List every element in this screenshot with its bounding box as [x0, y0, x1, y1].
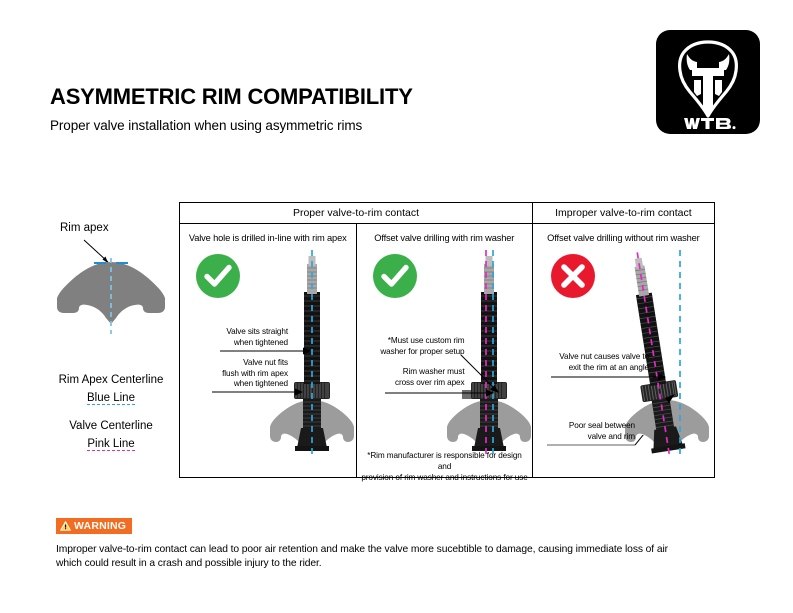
- leader-line-6: [547, 435, 663, 475]
- column-2-footnote: *Rim manufacturer is responsible for des…: [361, 450, 529, 483]
- page-header: ASYMMETRIC RIM COMPATIBILITY Proper valv…: [0, 0, 793, 160]
- callout-custom-washer: *Must use custom rim washer for proper s…: [361, 336, 465, 357]
- callout-valve-straight: Valve sits straight when tightened: [192, 327, 288, 348]
- warning-block: WARNING Improper valve-to-rim contact ca…: [56, 518, 756, 571]
- warning-body: Improper valve-to-rim contact can lead t…: [56, 543, 756, 571]
- leader-line-4: [385, 388, 495, 398]
- warning-triangle-icon: [60, 521, 71, 531]
- column-offset-with-washer: Offset valve drilling with rim washer: [357, 224, 534, 477]
- callout-nut-flush: Valve nut fits flush with rim apex when …: [188, 358, 288, 390]
- table-header-improper: Improper valve-to-rim contact: [533, 203, 714, 223]
- leader-arrow-poor-seal: [653, 390, 683, 418]
- wtb-bear-logo: [656, 30, 760, 134]
- status-badge-check-1: [196, 254, 240, 298]
- legend-pink-sublabel: Pink Line: [87, 438, 134, 450]
- legend-pink-line: Valve Centerline Pink Line: [36, 416, 186, 452]
- column-offset-without-washer: Offset valve drilling without rim washer: [533, 224, 714, 477]
- legend-pink-swatch: [87, 450, 134, 451]
- rim-apex-label: Rim apex: [60, 222, 109, 234]
- page-title: ASYMMETRIC RIM COMPATIBILITY: [50, 84, 413, 110]
- warning-body-line-1: Improper valve-to-rim contact can lead t…: [56, 543, 756, 557]
- table-body-row: Valve hole is drilled in-line with rim a…: [180, 224, 714, 477]
- legend-blue-line: Rim Apex Centerline Blue Line: [36, 370, 186, 406]
- cross-icon: [551, 254, 595, 298]
- compatibility-table: Proper valve-to-rim contact Improper val…: [179, 202, 715, 478]
- legend-blue-label: Rim Apex Centerline: [59, 373, 164, 388]
- column-3-subtitle: Offset valve drilling without rim washer: [533, 233, 714, 243]
- warning-body-line-2: which could result in a crash and possib…: [56, 557, 756, 571]
- legend-pink-label: Valve Centerline: [69, 419, 153, 434]
- table-header-row: Proper valve-to-rim contact Improper val…: [180, 203, 714, 224]
- legend-blue-swatch: [87, 404, 135, 405]
- column-2-subtitle: Offset valve drilling with rim washer: [357, 233, 533, 243]
- callout-valve-angle: Valve nut causes valve to exit the rim a…: [539, 352, 649, 373]
- column-inline-drilling: Valve hole is drilled in-line with rim a…: [180, 224, 357, 477]
- warning-badge: WARNING: [56, 518, 132, 534]
- leader-line-1: [220, 346, 312, 356]
- warning-label: WARNING: [74, 520, 126, 532]
- callout-washer-cross-apex: Rim washer must cross over rim apex: [365, 367, 465, 388]
- legend-panel: Rim apex Rim Apex Centerline Blue Line V…: [36, 222, 186, 457]
- table-header-proper: Proper valve-to-rim contact: [180, 203, 533, 223]
- page-subtitle: Proper valve installation when using asy…: [50, 118, 362, 133]
- column-1-subtitle: Valve hole is drilled in-line with rim a…: [180, 233, 356, 243]
- check-icon: [373, 254, 417, 298]
- wtb-logo-icon: [656, 30, 760, 134]
- leader-line-2: [212, 387, 304, 397]
- check-icon: [196, 254, 240, 298]
- leader-line-5: [551, 372, 667, 382]
- status-badge-cross: [551, 254, 595, 298]
- status-badge-check-2: [373, 254, 417, 298]
- legend-blue-sublabel: Blue Line: [87, 392, 135, 404]
- rim-cross-section-diagram: [36, 238, 186, 358]
